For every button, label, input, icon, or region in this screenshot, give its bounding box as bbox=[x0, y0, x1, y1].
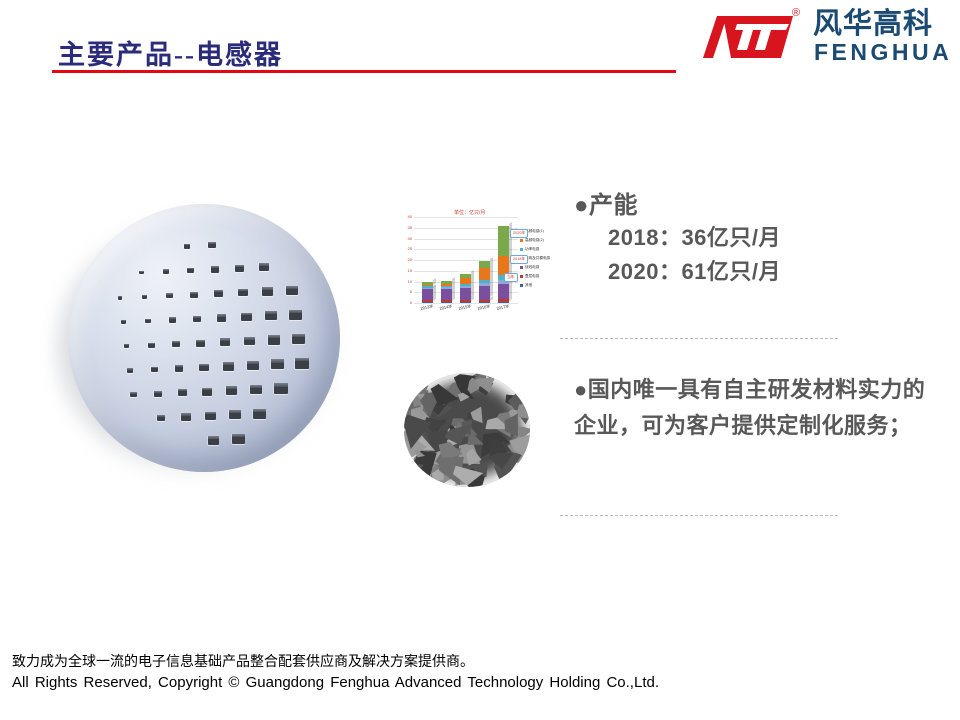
chart-y-tick: 10 bbox=[398, 280, 412, 284]
inductor-chip bbox=[274, 383, 288, 394]
chart-legend-label: 磁珠及共模电感 bbox=[525, 257, 550, 261]
chart-x-tick: 2013年 bbox=[420, 303, 434, 312]
inductor-chip bbox=[208, 436, 219, 445]
chart-bar-segment bbox=[498, 284, 509, 299]
chart-plot-area: 05101520253035402013年2014年2015年2016年2017… bbox=[414, 217, 518, 303]
chart-legend-label: 叠层电感 bbox=[525, 275, 539, 279]
chart-legend-swatch bbox=[520, 275, 523, 278]
inductor-chip bbox=[292, 334, 305, 345]
divider-top bbox=[560, 338, 838, 339]
chart-legend-label: 绕线电感 bbox=[525, 266, 539, 270]
inductor-chip bbox=[199, 364, 209, 372]
chart-bar-top bbox=[477, 258, 492, 261]
bullet-marker: ● bbox=[574, 377, 588, 402]
inductor-chip bbox=[268, 335, 280, 345]
chart-legend-swatch bbox=[520, 266, 523, 269]
inductor-chip bbox=[262, 287, 273, 296]
logo-chinese-name: 风华高科 bbox=[813, 10, 933, 39]
inductor-chip bbox=[235, 265, 244, 273]
inductor-chip bbox=[205, 412, 216, 421]
chart-legend-swatch bbox=[520, 248, 523, 251]
chart-bar bbox=[479, 261, 490, 303]
chart-annotation: 当年 bbox=[504, 273, 518, 282]
inductor-chip bbox=[271, 359, 284, 369]
chart-y-tick: 0 bbox=[398, 301, 412, 305]
chart-legend-label: 功率电感 bbox=[525, 248, 539, 252]
chart-legend-label: 高频电感(2) bbox=[525, 239, 544, 243]
inductor-chip bbox=[148, 343, 155, 348]
chart-bar bbox=[441, 281, 452, 303]
inductor-chip bbox=[121, 320, 126, 324]
inductor-chip bbox=[241, 313, 252, 321]
chart-annotation: 2018年 bbox=[510, 255, 528, 264]
inductor-chip bbox=[163, 269, 169, 274]
inductor-chip bbox=[202, 388, 212, 396]
capacity-bullet-block: ●产能 2018：36亿只/月 2020：61亿只/月 bbox=[574, 192, 904, 289]
inductor-chip bbox=[211, 266, 219, 273]
rnd-text-body: 国内唯一具有自主研发材料实力的企业，可为客户提供定制化服务； bbox=[574, 377, 925, 438]
inductor-chip bbox=[172, 341, 180, 347]
inductor-chip bbox=[259, 263, 269, 271]
chart-legend-swatch bbox=[520, 239, 523, 242]
rnd-text: ●国内唯一具有自主研发材料实力的企业，可为客户提供定制化服务； bbox=[574, 372, 934, 443]
inductor-chip bbox=[157, 415, 165, 422]
inductor-chip bbox=[166, 293, 173, 298]
chart-y-tick: 5 bbox=[398, 290, 412, 294]
inductor-chip bbox=[295, 358, 309, 369]
chart-bar-segment bbox=[441, 289, 452, 300]
inductor-chip bbox=[247, 361, 259, 370]
chart-y-tick: 35 bbox=[398, 226, 412, 230]
chart-bar-segment bbox=[498, 226, 509, 256]
rnd-bullet-block: ●国内唯一具有自主研发材料实力的企业，可为客户提供定制化服务； bbox=[574, 372, 934, 443]
inductor-chip bbox=[208, 242, 216, 248]
inductor-chip bbox=[217, 314, 226, 322]
chart-bar-segment bbox=[479, 286, 490, 299]
company-logo: ® 风华高科 FENGHUA bbox=[697, 6, 949, 68]
sem-grain bbox=[497, 373, 513, 381]
inductor-chip bbox=[220, 338, 230, 346]
chart-bar-segment bbox=[422, 289, 433, 300]
inductor-chip bbox=[190, 292, 198, 298]
chart-y-tick: 25 bbox=[398, 247, 412, 251]
chart-legend-item: 其他 bbox=[520, 281, 564, 290]
inductor-chip bbox=[232, 434, 245, 444]
inductor-chip bbox=[124, 344, 129, 348]
inductor-chip bbox=[193, 316, 201, 323]
inductor-chip bbox=[265, 311, 277, 320]
inductor-chip bbox=[130, 392, 137, 397]
logo-english-name: FENGHUA bbox=[814, 41, 952, 64]
page-title: 主要产品--电感器 bbox=[58, 33, 283, 72]
inductor-chip bbox=[253, 409, 266, 419]
capacity-bar-chart: 单位：亿只/月 05101520253035402013年2014年2015年2… bbox=[392, 203, 564, 325]
inductor-chip bbox=[223, 362, 234, 371]
footer-slogan-cn: 致力成为全球一流的电子信息基础产品整合配套供应商及解决方案提供商。 bbox=[12, 652, 952, 672]
inductor-chip bbox=[187, 268, 194, 274]
inductor-chip bbox=[142, 295, 147, 299]
chart-y-tick: 40 bbox=[398, 215, 412, 219]
divider-bottom bbox=[560, 515, 838, 516]
chart-y-tick: 20 bbox=[398, 258, 412, 262]
chart-x-tick: 2016年 bbox=[477, 303, 491, 312]
inductor-chip bbox=[127, 368, 133, 373]
inductor-chip bbox=[184, 244, 190, 249]
inductor-chip bbox=[175, 365, 183, 372]
chart-title: 单位：亿只/月 bbox=[454, 209, 485, 216]
inductor-chip bbox=[181, 413, 191, 421]
capacity-heading-text: 产能 bbox=[589, 192, 638, 219]
inductor-chip bbox=[226, 386, 237, 395]
inductor-chip bbox=[151, 367, 158, 373]
inductor-chip bbox=[154, 391, 162, 397]
capacity-line-2020: 2020：61亿只/月 bbox=[608, 255, 904, 289]
inductor-chip bbox=[178, 389, 187, 396]
bullet-marker: ● bbox=[574, 192, 589, 219]
registered-trademark-icon: ® bbox=[792, 7, 800, 19]
inductor-chip bbox=[169, 317, 176, 323]
chart-legend-item: 功率电感 bbox=[520, 245, 564, 254]
chart-bar-segment bbox=[479, 261, 490, 268]
chart-annotation: 2020年 bbox=[510, 229, 528, 238]
chart-bar-top bbox=[458, 271, 473, 274]
chart-legend-label: 其他 bbox=[525, 284, 532, 288]
chart-y-tick: 15 bbox=[398, 269, 412, 273]
slide-root: 主要产品--电感器 ® 风华高科 FENGHUA 单位：亿只/月 0510152… bbox=[0, 0, 960, 720]
inductor-chip bbox=[250, 385, 262, 395]
chart-legend-swatch bbox=[520, 284, 523, 287]
wafer-disc bbox=[68, 204, 340, 472]
inductor-chip bbox=[139, 271, 144, 275]
inductor-array-photo bbox=[42, 196, 354, 486]
chart-bar bbox=[422, 282, 433, 303]
capacity-line-2018: 2018：36亿只/月 bbox=[608, 221, 904, 255]
chart-x-tick: 2017年 bbox=[496, 303, 510, 312]
chart-y-tick: 30 bbox=[398, 237, 412, 241]
chart-bar-segment bbox=[479, 268, 490, 280]
capacity-heading: ●产能 bbox=[574, 192, 904, 221]
inductor-chip bbox=[289, 310, 302, 320]
chart-bar bbox=[460, 274, 471, 303]
title-underline bbox=[52, 70, 676, 73]
inductor-chip bbox=[238, 289, 248, 297]
chart-bar bbox=[498, 226, 509, 303]
sem-disc bbox=[404, 373, 530, 487]
chart-x-tick: 2015年 bbox=[458, 303, 472, 312]
inductor-chip bbox=[229, 410, 241, 419]
chart-x-tick: 2014年 bbox=[439, 303, 453, 312]
inductor-chip bbox=[244, 337, 255, 346]
fh-mark-icon bbox=[697, 10, 801, 62]
chart-legend-item: 叠层电感 bbox=[520, 272, 564, 281]
chart-bar-segment bbox=[460, 288, 471, 300]
footer-copyright-en: All Rights Reserved, Copyright © Guangdo… bbox=[12, 672, 952, 694]
chart-legend-item: 绕线电感 bbox=[520, 263, 564, 272]
chart-gridline bbox=[414, 217, 518, 218]
inductor-chip bbox=[214, 290, 223, 297]
footer: 致力成为全球一流的电子信息基础产品整合配套供应商及解决方案提供商。 All Ri… bbox=[12, 652, 952, 694]
inductor-chip bbox=[196, 340, 205, 347]
sem-micrograph-photo bbox=[396, 367, 538, 493]
inductor-chip bbox=[118, 296, 122, 300]
inductor-chip bbox=[286, 286, 298, 296]
inductor-chip bbox=[145, 319, 151, 324]
